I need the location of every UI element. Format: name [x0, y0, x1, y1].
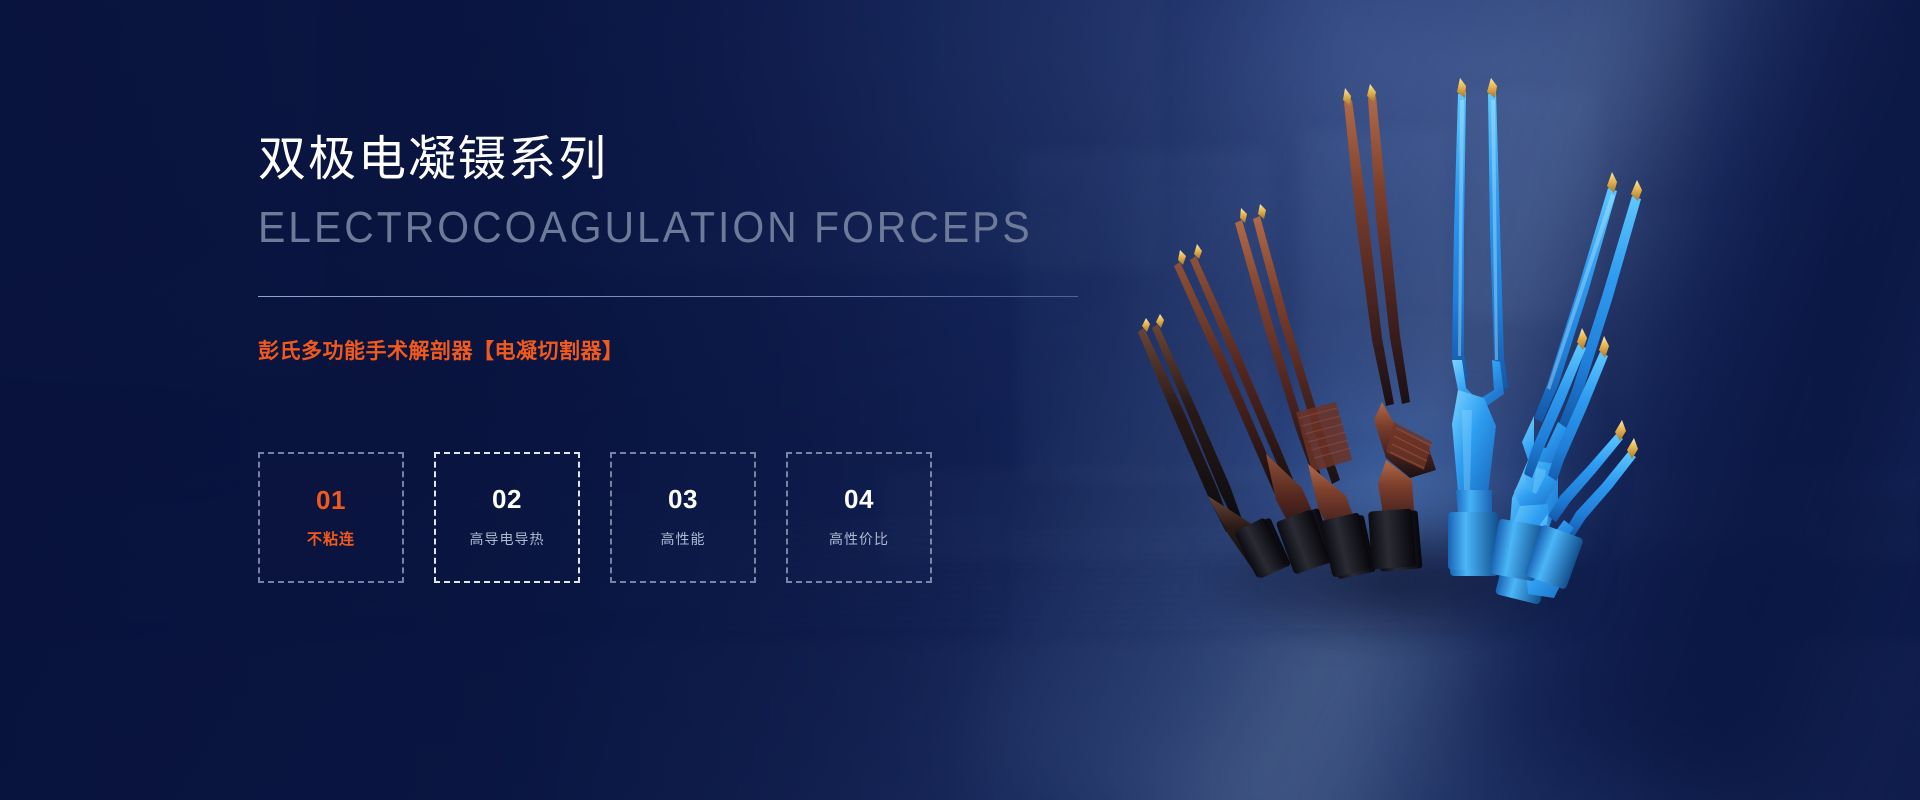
- feature-card-03[interactable]: 03 高性能: [610, 452, 756, 583]
- title-divider: [258, 296, 1078, 297]
- banner-content: 双极电凝镊系列 ELECTROCOAGULATION FORCEPS 彭氏多功能…: [258, 0, 1158, 800]
- feature-number: 04: [844, 486, 874, 512]
- feature-list: 01 不粘连 02 高导电导热 03 高性能 04 高性价比: [258, 452, 932, 583]
- feature-number: 02: [492, 486, 522, 512]
- feature-number: 01: [316, 487, 346, 513]
- feature-label: 高导电导热: [470, 529, 545, 549]
- feature-card-01[interactable]: 01 不粘连: [258, 452, 404, 583]
- feature-label: 不粘连: [307, 528, 355, 549]
- bg-panel-dark-right: [1700, 0, 1920, 500]
- feature-card-02[interactable]: 02 高导电导热: [434, 452, 580, 583]
- feature-card-04[interactable]: 04 高性价比: [786, 452, 932, 583]
- forceps-blue-3: [1498, 144, 1542, 446]
- feature-number: 03: [668, 486, 698, 512]
- feature-label: 高性价比: [829, 529, 889, 549]
- page-title: 双极电凝镊系列: [258, 132, 608, 187]
- forceps-dark-4: [1343, 84, 1436, 572]
- forceps-fan-image: [1080, 60, 1640, 580]
- product-tagline: 彭氏多功能手术解剖器【电凝切割器】: [258, 335, 624, 365]
- page-subtitle-english: ELECTROCOAGULATION FORCEPS: [258, 205, 1033, 251]
- product-banner: 双极电凝镊系列 ELECTROCOAGULATION FORCEPS 彭氏多功能…: [0, 0, 1920, 800]
- feature-label: 高性能: [661, 529, 706, 549]
